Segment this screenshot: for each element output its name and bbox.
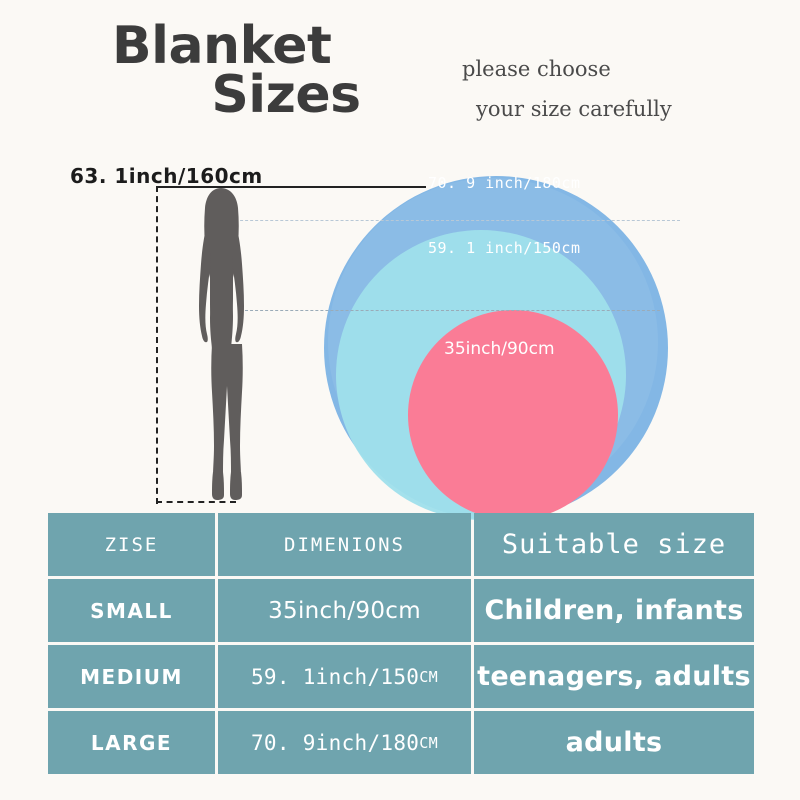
table-row: MEDIUM 59. 1inch/150CM teenagers, adults: [48, 645, 754, 708]
table-header-row: ZISE DIMENIONS Suitable size: [48, 513, 754, 576]
cell-suitable-large: adults: [474, 711, 754, 774]
size-table: ZISE DIMENIONS Suitable size SMALL 35inc…: [48, 513, 754, 774]
cell-dimensions-large: 70. 9inch/180CM: [218, 711, 471, 774]
subtitle-line-1: please choose: [462, 50, 762, 90]
leader-line-upper: [220, 220, 680, 221]
header-cell-size: ZISE: [48, 513, 215, 576]
female-silhouette-icon: [176, 184, 266, 502]
cell-suitable-medium: teenagers, adults: [474, 645, 754, 708]
height-measure-line: [156, 186, 158, 504]
table-row: SMALL 35inch/90cm Children, infants: [48, 579, 754, 642]
header-cell-dimensions: DIMENIONS: [218, 513, 471, 576]
cell-dimensions-medium-value: 59. 1inch/150: [251, 665, 419, 689]
title-line-2: Sizes: [112, 71, 442, 120]
size-comparison-diagram: 70. 9 inch/180cm 59. 1 inch/150cm 35inch…: [0, 150, 800, 515]
title-line-1: Blanket: [112, 22, 442, 71]
cell-size-medium: MEDIUM: [48, 645, 215, 708]
cell-dimensions-small: 35inch/90cm: [218, 579, 471, 642]
cell-dimensions-medium: 59. 1inch/150CM: [218, 645, 471, 708]
cell-suitable-small: Children, infants: [474, 579, 754, 642]
cell-size-small: SMALL: [48, 579, 215, 642]
subtitle-line-2: your size carefully: [462, 90, 762, 130]
height-label: 63. 1inch/160cm: [70, 164, 263, 188]
cell-dimensions-large-value: 70. 9inch/180: [251, 731, 419, 755]
table-row: LARGE 70. 9inch/180CM adults: [48, 711, 754, 774]
cell-size-large: LARGE: [48, 711, 215, 774]
leader-line-lower: [240, 310, 660, 311]
circle-label-small: 35inch/90cm: [444, 339, 555, 359]
cell-dimensions-large-unit: CM: [419, 734, 438, 752]
circle-label-large: 70. 9 inch/180cm: [428, 174, 581, 192]
subtitle: please choose your size carefully: [462, 50, 762, 130]
circle-label-medium: 59. 1 inch/150cm: [428, 239, 581, 257]
header-cell-suitable: Suitable size: [474, 513, 754, 576]
infographic-root: Blanket Sizes please choose your size ca…: [0, 0, 800, 800]
cell-dimensions-medium-unit: CM: [419, 668, 438, 686]
page-title: Blanket Sizes: [112, 22, 442, 121]
